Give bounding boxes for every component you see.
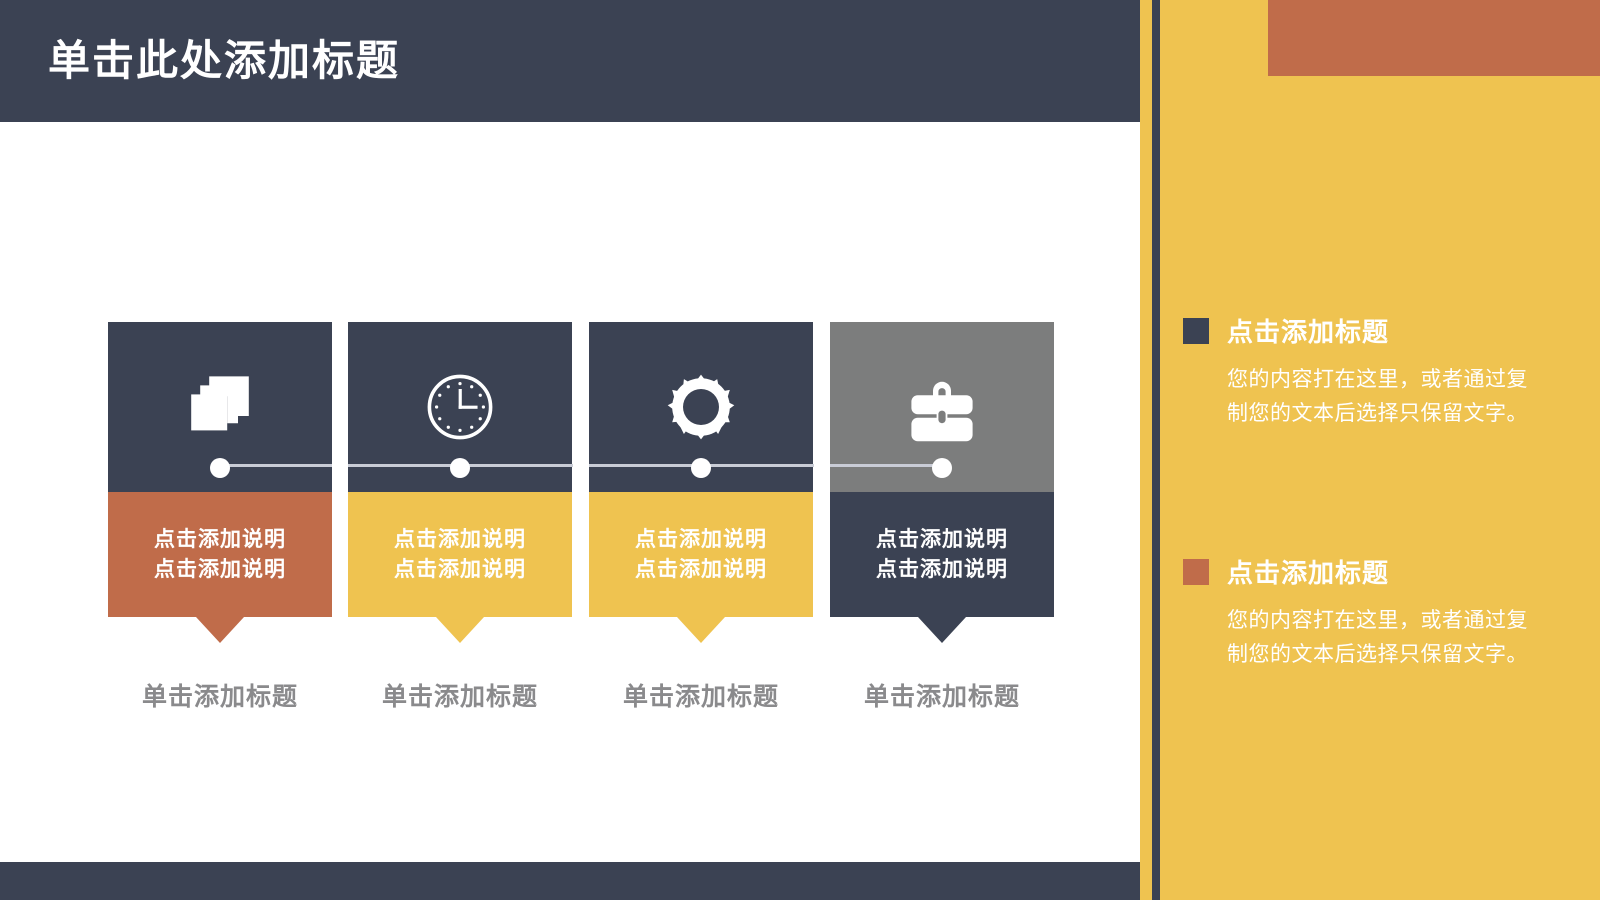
sidebar-item-1-title[interactable]: 点击添加标题 [1227,312,1389,349]
sidebar-item-1-body[interactable]: 您的内容打在这里，或者通过复制您的文本后选择只保留文字。 [1227,363,1537,431]
card-2-desc-line-2: 点击添加说明 [394,555,526,585]
sidebar-item-1-header: 点击添加标题 [1183,312,1543,349]
card-1-caption[interactable]: 单击添加标题 [108,677,332,713]
timeline-dot-4 [932,458,952,478]
gear-icon [656,362,746,452]
card-1-desc-line-1: 点击添加说明 [154,525,286,555]
card-2-desc-line-1: 点击添加说明 [394,525,526,555]
clock-icon [415,362,505,452]
card-2-description: 点击添加说明 点击添加说明 [348,492,572,617]
right-side-panel [1160,0,1600,900]
card-3[interactable]: 点击添加说明 点击添加说明 单击添加标题 [589,322,813,617]
card-1[interactable]: 点击添加说明 点击添加说明 单击添加标题 [108,322,332,617]
connector-gap [814,322,830,492]
connector-gap [573,322,589,492]
card-4-description: 点击添加说明 点击添加说明 [830,492,1054,617]
stripe-yellow [1140,0,1152,900]
sidebar-item-2[interactable]: 点击添加标题 您的内容打在这里，或者通过复制您的文本后选择只保留文字。 [1183,553,1543,672]
card-3-pointer [677,617,725,643]
card-2-pointer [436,617,484,643]
timeline-dot-3 [691,458,711,478]
footer-bar [0,862,1140,900]
card-3-description: 点击添加说明 点击添加说明 [589,492,813,617]
layers-icon [175,362,265,452]
card-3-desc-line-2: 点击添加说明 [635,555,767,585]
timeline-dot-1 [210,458,230,478]
card-4-pointer [918,617,966,643]
card-4-caption[interactable]: 单击添加标题 [830,677,1054,713]
sidebar-item-2-title[interactable]: 点击添加标题 [1227,553,1389,590]
card-3-caption[interactable]: 单击添加标题 [589,677,813,713]
connector-gap [332,322,348,492]
card-2[interactable]: 点击添加说明 点击添加说明 单击添加标题 [348,322,572,617]
card-2-caption[interactable]: 单击添加标题 [348,677,572,713]
header-decoration-mask [860,122,1160,162]
card-3-desc-line-1: 点击添加说明 [635,525,767,555]
card-1-pointer [196,617,244,643]
sidebar-item-1[interactable]: 点击添加标题 您的内容打在这里，或者通过复制您的文本后选择只保留文字。 [1183,312,1543,431]
page-title[interactable]: 单击此处添加标题 [48,40,400,82]
card-4-desc-line-1: 点击添加说明 [876,525,1008,555]
briefcase-icon [897,362,987,452]
slide-canvas: 单击此处添加标题 点击添加说明 点击添加说明 单击添加标题 [0,0,1600,900]
card-1-description: 点击添加说明 点击添加说明 [108,492,332,617]
card-4-desc-line-2: 点击添加说明 [876,555,1008,585]
timeline-dot-2 [450,458,470,478]
square-bullet-icon [1183,318,1209,344]
corner-accent-block [1268,0,1600,76]
square-bullet-icon [1183,559,1209,585]
sidebar-item-2-header: 点击添加标题 [1183,553,1543,590]
stripe-dark [1152,0,1160,900]
sidebar-item-2-body[interactable]: 您的内容打在这里，或者通过复制您的文本后选择只保留文字。 [1227,604,1537,672]
card-1-desc-line-2: 点击添加说明 [154,555,286,585]
card-4[interactable]: 点击添加说明 点击添加说明 单击添加标题 [830,322,1054,617]
